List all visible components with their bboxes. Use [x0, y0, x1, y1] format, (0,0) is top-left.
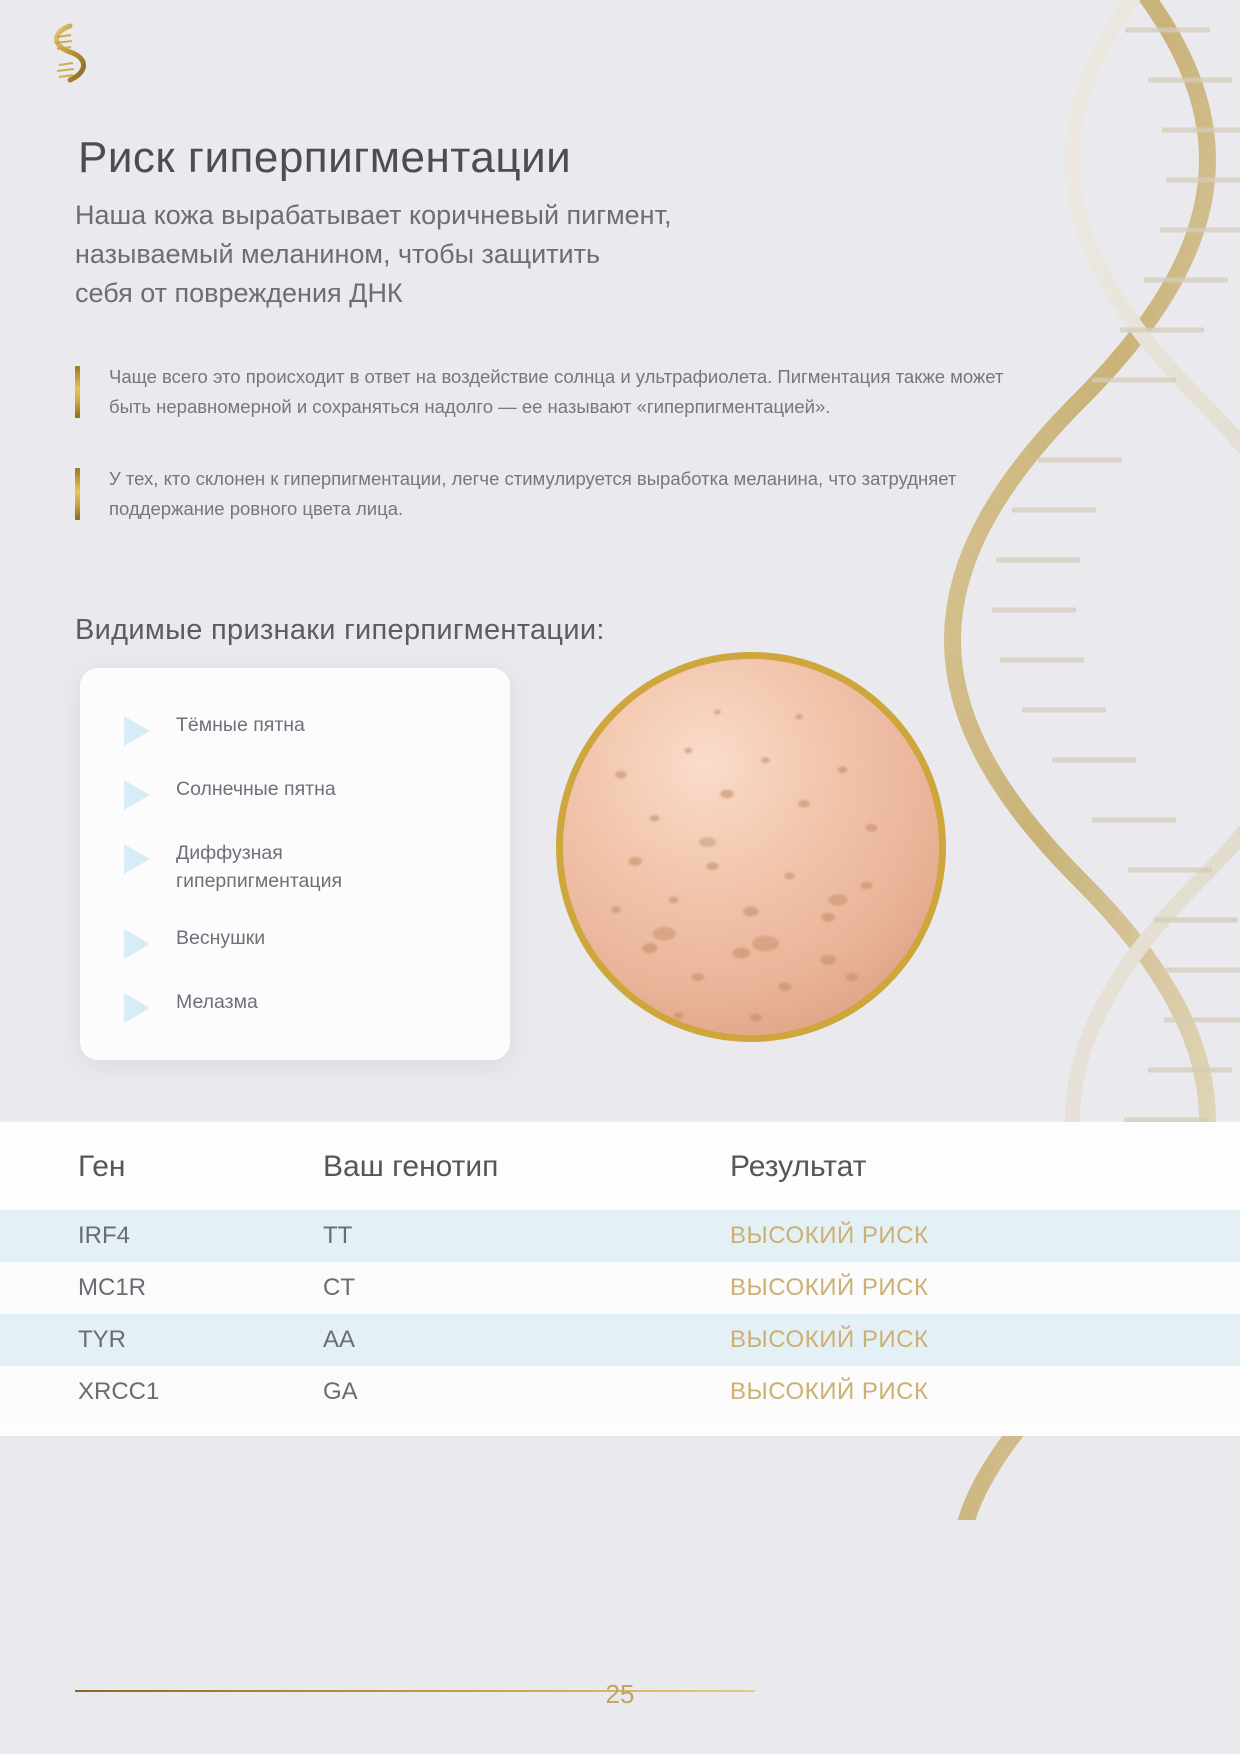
report-page: Риск гиперпигментации Наша кожа вырабаты… — [0, 0, 1240, 1754]
cell-gene: MC1R — [0, 1262, 315, 1314]
cell-result: ВЫСОКИЙ РИСК — [720, 1314, 1240, 1366]
table-row: TYR AA ВЫСОКИЙ РИСК — [0, 1314, 1240, 1366]
cell-gene: TYR — [0, 1314, 315, 1366]
cell-genotype: AA — [315, 1314, 720, 1366]
table-row: XRCC1 GA ВЫСОКИЙ РИСК — [0, 1366, 1240, 1418]
sign-label: Тёмные пятна — [176, 712, 305, 740]
cell-genotype: CT — [315, 1262, 720, 1314]
cell-gene: XRCC1 — [0, 1366, 315, 1418]
sign-label: Диффузная гиперпигментация — [176, 840, 342, 895]
page-footer: 25 — [0, 1614, 1240, 1754]
subtitle-line-3: себя от повреждения ДНК — [75, 274, 955, 313]
genotype-table-section: Ген Ваш генотип Результат IRF4 TT ВЫСОКИ… — [0, 1122, 1240, 1436]
column-header-gene: Ген — [0, 1122, 315, 1210]
triangle-arrow-icon — [124, 993, 150, 1023]
page-title: Риск гиперпигментации — [78, 133, 571, 183]
sign-label: Веснушки — [176, 925, 265, 953]
subtitle-line-1: Наша кожа вырабатывает коричневый пигмен… — [75, 196, 955, 235]
triangle-arrow-icon — [124, 844, 150, 874]
quote-block: У тех, кто склонен к гиперпигментации, л… — [75, 464, 1035, 524]
sign-label: Солнечные пятна — [176, 776, 336, 804]
cell-genotype: GA — [315, 1366, 720, 1418]
triangle-arrow-icon — [124, 716, 150, 746]
subtitle-line-2: называемый меланином, чтобы защитить — [75, 235, 955, 274]
list-item: Диффузная гиперпигментация — [110, 840, 480, 895]
page-number: 25 — [0, 1679, 1240, 1710]
quote-list: Чаще всего это происходит в ответ на воз… — [75, 362, 1035, 566]
list-item: Веснушки — [110, 925, 480, 959]
column-header-genotype: Ваш генотип — [315, 1122, 720, 1210]
triangle-arrow-icon — [124, 929, 150, 959]
cell-result: ВЫСОКИЙ РИСК — [720, 1210, 1240, 1262]
gold-bar-accent — [75, 366, 80, 418]
dna-helix-icon — [40, 22, 88, 88]
page-subtitle: Наша кожа вырабатывает коричневый пигмен… — [75, 196, 955, 313]
table-row: IRF4 TT ВЫСОКИЙ РИСК — [0, 1210, 1240, 1262]
list-item: Мелазма — [110, 989, 480, 1023]
gold-bar-accent — [75, 468, 80, 520]
column-header-result: Результат — [720, 1122, 1240, 1210]
cell-gene: IRF4 — [0, 1210, 315, 1262]
quote-block: Чаще всего это происходит в ответ на воз… — [75, 362, 1035, 422]
cell-genotype: TT — [315, 1210, 720, 1262]
sign-label: Мелазма — [176, 989, 258, 1017]
signs-section-heading: Видимые признаки гиперпигментации: — [75, 614, 605, 647]
genotype-table: Ген Ваш генотип Результат IRF4 TT ВЫСОКИ… — [0, 1122, 1240, 1418]
visible-signs-card: Тёмные пятна Солнечные пятна Диффузная г… — [80, 668, 510, 1060]
cell-result: ВЫСОКИЙ РИСК — [720, 1262, 1240, 1314]
skin-hyperpigmentation-photo — [556, 652, 946, 1042]
list-item: Тёмные пятна — [110, 712, 480, 746]
quote-text: У тех, кто склонен к гиперпигментации, л… — [109, 464, 1035, 524]
cell-result: ВЫСОКИЙ РИСК — [720, 1366, 1240, 1418]
triangle-arrow-icon — [124, 780, 150, 810]
table-row: MC1R CT ВЫСОКИЙ РИСК — [0, 1262, 1240, 1314]
list-item: Солнечные пятна — [110, 776, 480, 810]
quote-text: Чаще всего это происходит в ответ на воз… — [109, 362, 1035, 422]
table-header-row: Ген Ваш генотип Результат — [0, 1122, 1240, 1210]
